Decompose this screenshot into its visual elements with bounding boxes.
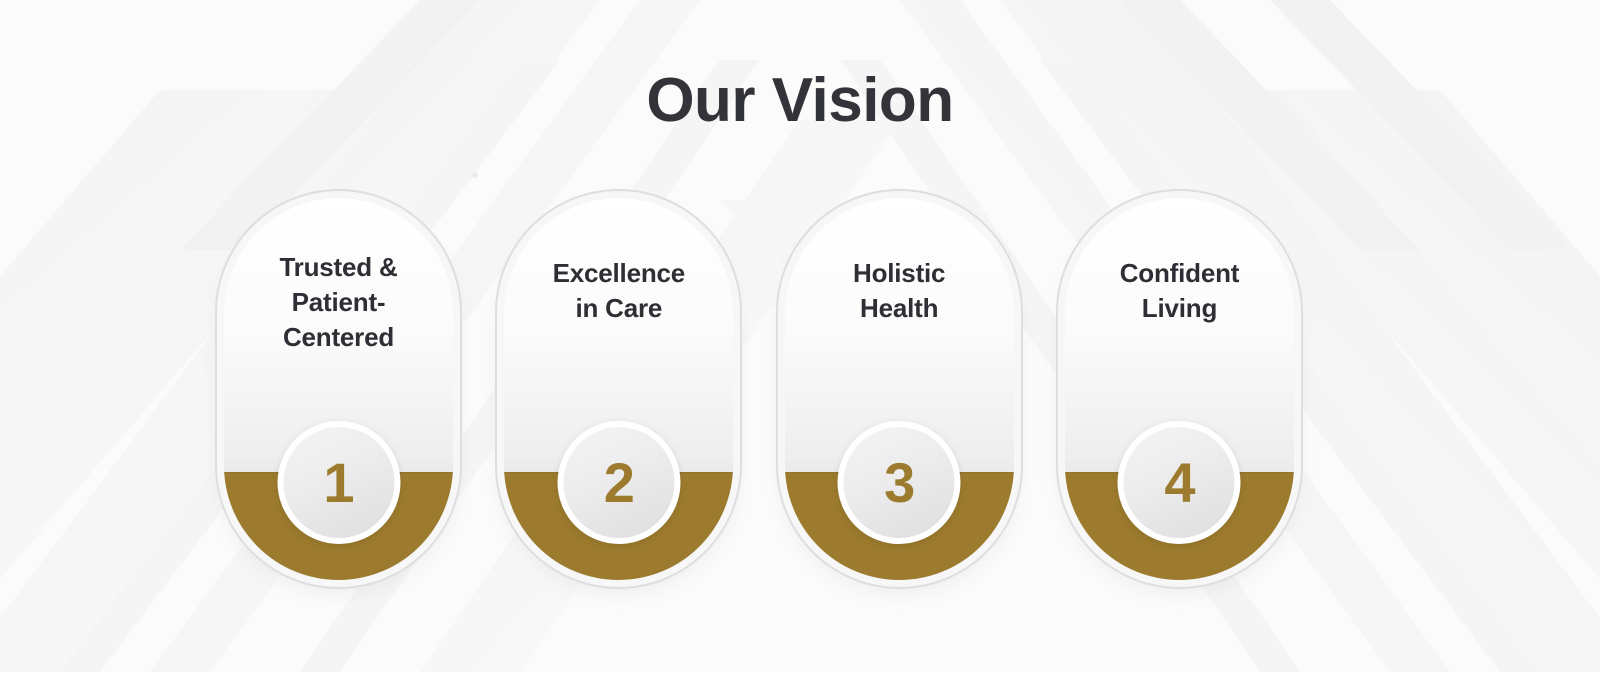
vision-card-list: Trusted & Patient- Centered 1 Excellence… bbox=[224, 198, 1294, 580]
vision-card-4-label: Confident Living bbox=[1081, 256, 1278, 326]
page-title: Our Vision bbox=[0, 68, 1600, 133]
vision-card-1[interactable]: Trusted & Patient- Centered 1 bbox=[224, 198, 453, 580]
vision-card-2-number-badge[interactable]: 2 bbox=[557, 421, 680, 544]
badge-number: 1 bbox=[323, 455, 353, 511]
vision-slide: Our Vision Trusted & Patient- Centered 1… bbox=[0, 0, 1600, 700]
vision-card-1-number-badge[interactable]: 1 bbox=[277, 421, 400, 544]
card-label-line: Excellence bbox=[520, 256, 717, 291]
badge-number: 2 bbox=[604, 455, 634, 511]
badge-number: 4 bbox=[1164, 455, 1194, 511]
badge-number: 3 bbox=[884, 455, 914, 511]
vision-card-3[interactable]: Holistic Health 3 bbox=[785, 198, 1014, 580]
vision-card-2[interactable]: Excellence in Care 2 bbox=[504, 198, 733, 580]
card-label-line: Holistic bbox=[801, 256, 998, 291]
vision-card-1-label: Trusted & Patient- Centered bbox=[240, 250, 437, 355]
card-label-line: in Care bbox=[520, 291, 717, 326]
vision-card-3-label: Holistic Health bbox=[801, 256, 998, 326]
vision-card-2-label: Excellence in Care bbox=[520, 256, 717, 326]
decorative-dot bbox=[472, 172, 478, 178]
card-label-line: Confident bbox=[1081, 256, 1278, 291]
vision-card-3-number-badge[interactable]: 3 bbox=[838, 421, 961, 544]
card-label-line: Trusted & bbox=[240, 250, 437, 285]
card-label-line: Living bbox=[1081, 291, 1278, 326]
vision-card-4-number-badge[interactable]: 4 bbox=[1118, 421, 1241, 544]
card-label-line: Centered bbox=[240, 320, 437, 355]
card-label-line: Health bbox=[801, 291, 998, 326]
vision-card-4[interactable]: Confident Living 4 bbox=[1065, 198, 1294, 580]
card-label-line: Patient- bbox=[240, 285, 437, 320]
